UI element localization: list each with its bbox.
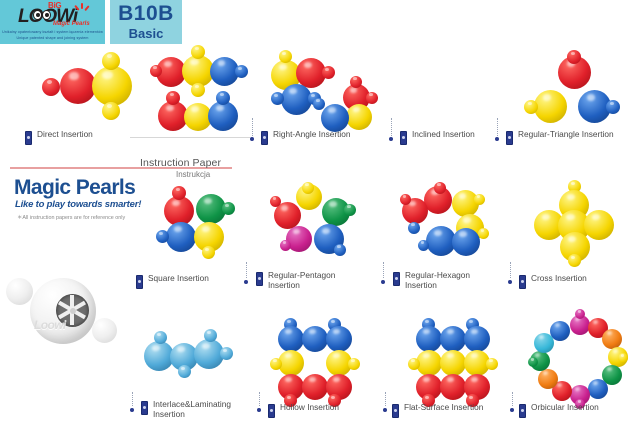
product-code-panel: B10B Basic <box>110 0 182 44</box>
label-text: Orbicular Insertion <box>531 403 599 413</box>
model-inclined-insertion <box>263 48 383 130</box>
separator-10 <box>512 392 514 406</box>
label-text: Hollow Insertion <box>280 403 339 413</box>
bullet-chip-icon <box>400 131 407 145</box>
separator-dot-10 <box>510 408 514 412</box>
model-square-insertion <box>150 182 250 260</box>
model-hollow-insertion <box>270 318 366 402</box>
loowi-logo: BiG LOOWi Magic Pearls <box>6 1 100 29</box>
product-photo-loowi-pearl: Loowi <box>4 268 124 352</box>
bullet-chip-icon <box>506 131 513 145</box>
label-text: Interlace&Laminating Insertion <box>153 400 231 419</box>
bullet-chip-icon <box>268 404 275 418</box>
separator-8 <box>259 392 261 406</box>
model-regular-hexagon-insertion <box>400 182 500 260</box>
instruction-paper-subtitle: Instrukcja <box>176 170 210 179</box>
separator-dot-6 <box>508 280 512 284</box>
model-regular-pentagon-insertion <box>270 182 370 260</box>
bullet-chip-icon <box>393 272 400 286</box>
label-text: Regular-Triangle Insertion <box>518 130 614 140</box>
bullet-chip-icon <box>141 401 148 415</box>
logo-eye-left-icon <box>33 10 42 20</box>
model-direct-insertion <box>42 52 152 124</box>
label-right-angle-insertion: Right-Angle Insertion <box>261 130 350 145</box>
logo-subtitle: Magic Pearls <box>53 21 90 27</box>
label-text: Regular-Pentagon Insertion <box>268 271 335 290</box>
label-regular-triangle-insertion: Regular-Triangle Insertion <box>506 130 614 145</box>
bullet-chip-icon <box>256 272 263 286</box>
label-regular-pentagon-insertion: Regular-Pentagon Insertion <box>256 271 335 290</box>
label-text: Right-Angle Insertion <box>273 130 350 140</box>
label-text: Inclined Insertion <box>412 130 475 140</box>
product-code: B10B <box>110 2 182 26</box>
model-flat-surface-insertion <box>408 318 504 402</box>
tagline-english: Unique patented shape and joining system <box>0 36 105 40</box>
separator-1 <box>252 118 254 136</box>
separator-dot-8 <box>257 408 261 412</box>
label-text: Regular-Hexagon Insertion <box>405 271 470 290</box>
separator-5 <box>383 262 385 278</box>
label-text: Direct Insertion <box>37 130 93 140</box>
separator-dot-4 <box>244 280 248 284</box>
bullet-chip-icon <box>136 275 143 289</box>
label-interlace-laminating-insertion: Interlace&Laminating Insertion <box>141 400 231 419</box>
magic-pearls-slogan: Like to play towards smarter! <box>15 199 141 210</box>
model-orbicular-insertion <box>528 315 628 405</box>
separator-9 <box>385 392 387 406</box>
tagline-polish: Unikalny opatentowany kształt i system ł… <box>0 30 105 34</box>
separator-7 <box>132 392 134 406</box>
label-square-insertion: Square Insertion <box>136 274 209 289</box>
bullet-chip-icon <box>519 275 526 289</box>
label-text: Square Insertion <box>148 274 209 284</box>
separator-3 <box>497 118 499 136</box>
separator-4 <box>246 262 248 278</box>
magic-pearls-title: Magic Pearls <box>14 176 135 200</box>
label-direct-insertion: Direct Insertion <box>25 130 93 145</box>
photo-watermark: Loowi <box>34 318 66 332</box>
label-hollow-insertion: Hollow Insertion <box>268 403 339 418</box>
separator-dot-5 <box>381 280 385 284</box>
label-cross-insertion: Cross Insertion <box>519 274 587 289</box>
separator-2 <box>391 118 393 136</box>
label-text: Flat-Surface Insertion <box>404 403 483 413</box>
label-text: Cross Insertion <box>531 274 587 284</box>
separator-dot-1 <box>250 137 254 141</box>
model-right-angle-insertion <box>150 45 258 130</box>
separator-dot-9 <box>383 408 387 412</box>
label-flat-surface-insertion: Flat-Surface Insertion <box>392 403 483 418</box>
separator-dot-3 <box>495 137 499 141</box>
bullet-chip-icon <box>261 131 268 145</box>
logo-antenna-icon <box>76 2 90 11</box>
bullet-chip-icon <box>25 131 32 145</box>
label-regular-hexagon-insertion: Regular-Hexagon Insertion <box>393 271 470 290</box>
separator-dot-7 <box>130 408 134 412</box>
label-inclined-insertion: Inclined Insertion <box>400 130 475 145</box>
logo-eye-right-icon <box>42 10 51 20</box>
separator-dot-2 <box>389 137 393 141</box>
instruction-paper-title: Instruction Paper <box>140 157 221 169</box>
separator-6 <box>510 262 512 278</box>
model-regular-triangle-insertion <box>520 50 630 128</box>
label-orbicular-insertion: Orbicular Insertion <box>519 403 599 418</box>
page-header: BiG LOOWi Magic Pearls Unikalny opatento… <box>0 0 643 44</box>
photo-nub-right <box>92 318 117 343</box>
brand-panel: BiG LOOWi Magic Pearls Unikalny opatento… <box>0 0 105 44</box>
model-cross-insertion <box>530 180 620 262</box>
bullet-chip-icon <box>519 404 526 418</box>
model-interlace-laminating-insertion <box>140 325 250 385</box>
row1-divider <box>130 137 250 138</box>
product-variant: Basic <box>110 26 182 41</box>
photo-nub-left <box>6 278 33 305</box>
bullet-chip-icon <box>392 404 399 418</box>
reference-only-note: ＊All instruction papers are for referenc… <box>17 213 125 221</box>
